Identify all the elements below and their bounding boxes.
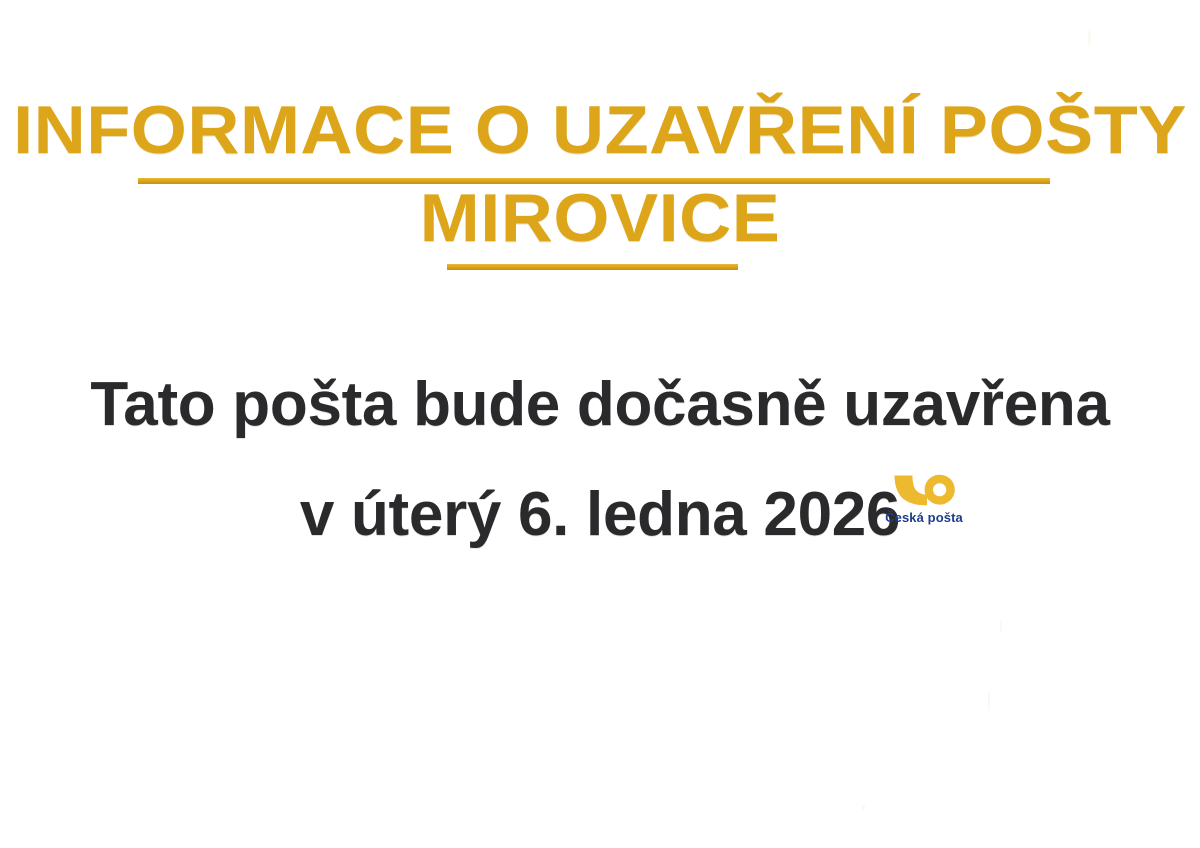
ceska-posta-wordmark: Česká pošta — [876, 510, 972, 525]
headline-line-primary: INFORMACE O UZAVŘENÍ POŠTY — [0, 96, 1200, 164]
headline-line-location: MIROVICE — [0, 184, 1200, 252]
body-line-closure-statement: Tato pošta bude dočasně uzavřena — [0, 374, 1200, 436]
postal-horn-icon — [891, 474, 957, 506]
scan-artifact — [1088, 30, 1091, 46]
scan-artifact — [862, 805, 865, 810]
headline-underline-primary — [138, 178, 1050, 184]
ceska-posta-logo: Česká pošta — [876, 474, 972, 525]
scan-artifact — [1000, 620, 1002, 634]
notice-body: Tato pošta bude dočasně uzavřena v úterý… — [0, 374, 1200, 546]
scan-artifact — [988, 690, 990, 712]
body-line-closure-date: v úterý 6. ledna 2026 — [0, 484, 1200, 546]
notice-headline: INFORMACE O UZAVŘENÍ POŠTY MIROVICE — [0, 96, 1200, 252]
headline-underline-location — [447, 264, 738, 270]
notice-sheet: INFORMACE O UZAVŘENÍ POŠTY MIROVICE Tato… — [0, 0, 1200, 848]
